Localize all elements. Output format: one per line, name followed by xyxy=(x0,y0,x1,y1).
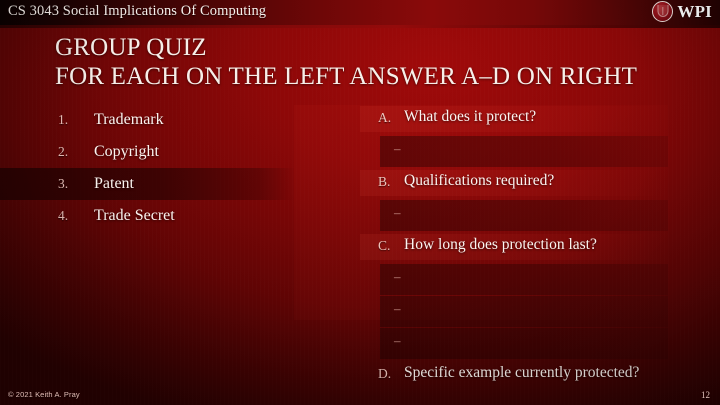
answer-letter: C. xyxy=(378,238,390,254)
answer-letter: D. xyxy=(378,366,391,382)
slide-canvas: CS 3043 Social Implications Of Computing… xyxy=(0,0,720,405)
sub-item-dash: – xyxy=(394,205,401,221)
sub-item-dash: – xyxy=(394,333,401,349)
lettered-list: A. What does it protect? – B. Qualificat… xyxy=(0,104,720,404)
answer-sub-item: – xyxy=(0,264,720,296)
wpi-wordmark: WPI xyxy=(677,3,712,20)
sub-item-band xyxy=(380,200,668,231)
copyright-notice: © 2021 Keith A. Pray xyxy=(8,390,80,399)
sub-item-band xyxy=(380,264,668,295)
answer-sub-item: – xyxy=(0,296,720,328)
answer-item: B. Qualifications required? xyxy=(0,168,720,200)
sub-item-dash: – xyxy=(394,269,401,285)
answer-text: Specific example currently protected? xyxy=(404,364,674,382)
answer-item: A. What does it protect? xyxy=(0,104,720,136)
sub-item-band xyxy=(380,328,668,359)
answer-letter: B. xyxy=(378,174,390,190)
page-title: GROUP QUIZ FOR EACH ON THE LEFT ANSWER A… xyxy=(55,33,695,91)
sub-item-dash: – xyxy=(394,141,401,157)
answer-sub-item: – xyxy=(0,328,720,360)
answer-text: How long does protection last? xyxy=(404,236,674,254)
answer-text: Qualifications required? xyxy=(404,172,674,190)
page-number: 12 xyxy=(701,390,710,400)
answer-item: C. How long does protection last? xyxy=(0,232,720,264)
answer-sub-item: – xyxy=(0,136,720,168)
course-title: CS 3043 Social Implications Of Computing xyxy=(8,3,266,20)
wpi-logo: WPI xyxy=(652,1,712,22)
page-title-line-1: GROUP QUIZ xyxy=(55,33,695,62)
sub-item-band xyxy=(380,296,668,327)
wpi-seal-icon xyxy=(652,1,673,22)
sub-item-band xyxy=(380,136,668,167)
answer-item: D. Specific example currently protected? xyxy=(0,360,720,404)
page-title-line-2: FOR EACH ON THE LEFT ANSWER A–D ON RIGHT xyxy=(55,62,695,91)
header-accent-line xyxy=(0,25,720,28)
slide-header-bar: CS 3043 Social Implications Of Computing… xyxy=(0,0,720,25)
answer-sub-item: – xyxy=(0,200,720,232)
sub-item-dash: – xyxy=(394,301,401,317)
answer-text: What does it protect? xyxy=(404,108,674,126)
answer-letter: A. xyxy=(378,110,391,126)
